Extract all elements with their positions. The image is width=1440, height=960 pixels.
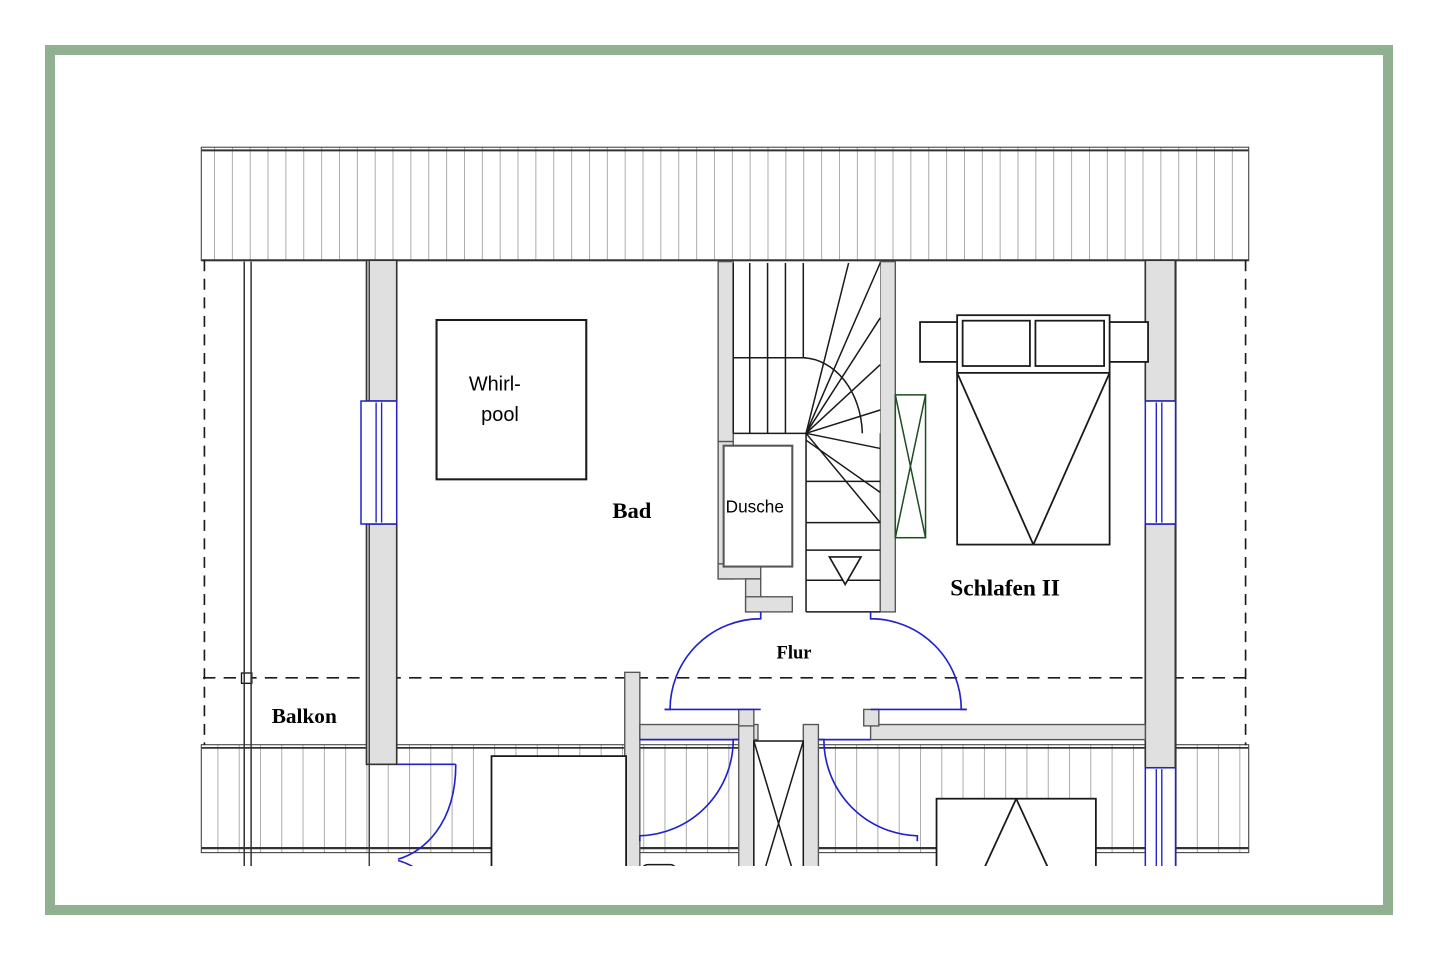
room-label-dusche: Dusche	[726, 496, 784, 516]
window-right-schlafen1	[1145, 768, 1175, 866]
room-label-balkon: Balkon	[272, 704, 337, 728]
window-right-schlafen2	[1145, 401, 1175, 524]
section-line	[203, 673, 1247, 683]
room-label-flur: Flur	[777, 643, 812, 664]
cabinet-x-symbol-stairs	[895, 395, 925, 538]
whirlpool-basin	[437, 320, 587, 479]
bed-schlafen-two	[920, 315, 1148, 544]
sauna-cabin	[491, 756, 626, 866]
roof-band-top	[202, 148, 1249, 261]
bed-schlafen-one	[904, 799, 1129, 866]
floor-plan-drawing: Balkon Bad Whirl- pool Dusche Flur Schla…	[196, 138, 1254, 866]
room-label-whirlpool-line1: Whirl-	[469, 374, 521, 396]
cabinet-x-symbol-wc	[754, 741, 803, 866]
washbasin	[641, 865, 677, 866]
window-left-bad	[361, 401, 397, 524]
room-label-schlafen2: Schlafen II	[950, 575, 1060, 601]
room-label-whirlpool-line2: pool	[481, 404, 519, 426]
exterior-wall-right	[1145, 260, 1175, 866]
room-label-bad: Bad	[612, 498, 651, 523]
